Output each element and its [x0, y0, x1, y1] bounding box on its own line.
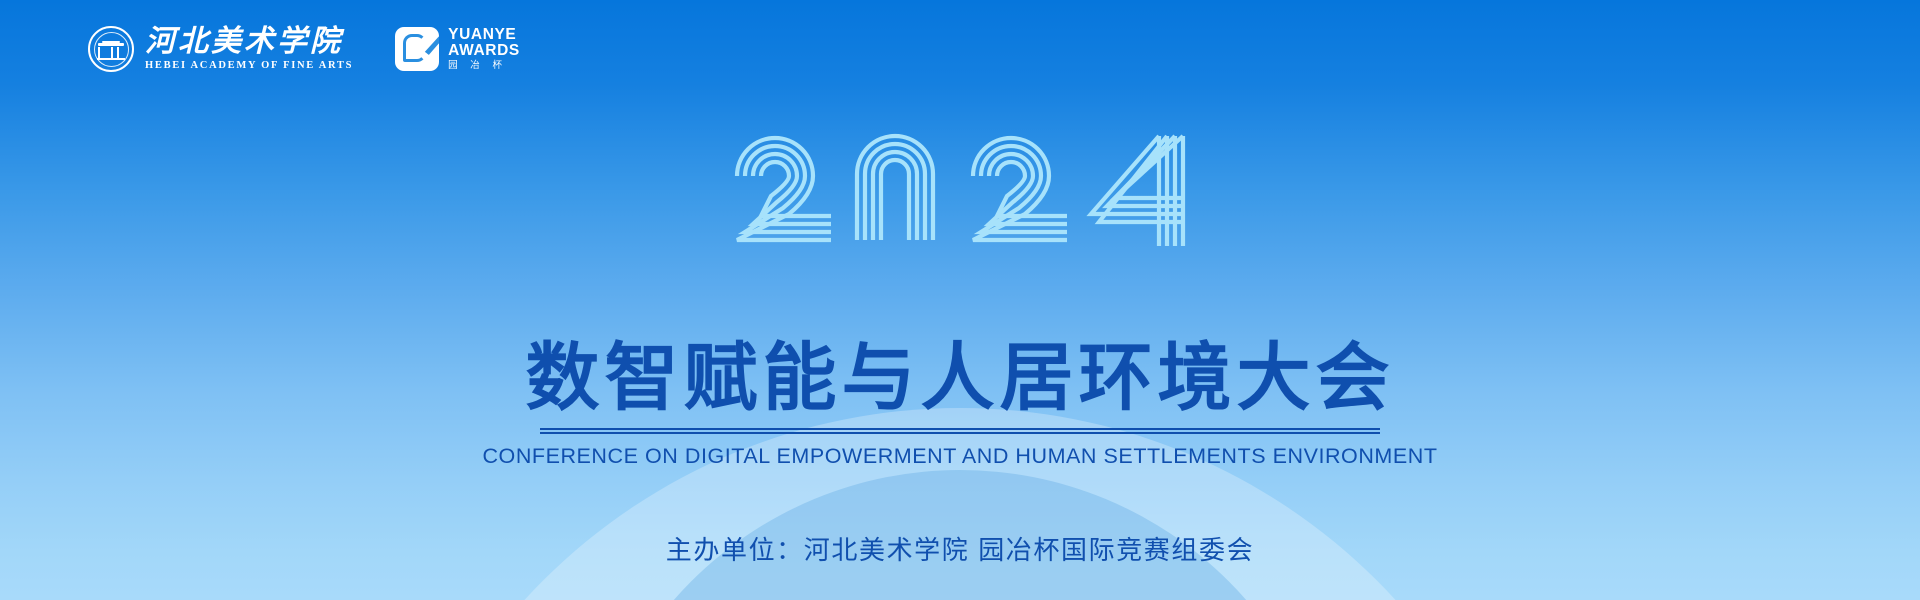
hebei-academy-name-en: HEBEI ACADEMY OF FINE ARTS	[145, 60, 353, 72]
seal-gate-glyph	[98, 41, 124, 58]
conference-banner: 河北美术学院 HEBEI ACADEMY OF FINE ARTS YUANYE…	[0, 0, 1920, 600]
year-digit-2-second	[963, 128, 1075, 248]
yuanye-leaf-mark-icon	[395, 27, 439, 71]
yuanye-awards-logo: YUANYE AWARDS 园 冶 杯	[395, 27, 520, 72]
title-divider-line-2	[540, 432, 1380, 434]
conference-title-cn: 数智赋能与人居环境大会	[0, 338, 1920, 418]
yuanye-line2: AWARDS	[448, 43, 520, 59]
yuanye-awards-wordmark: YUANYE AWARDS 园 冶 杯	[448, 27, 520, 72]
year-digit-2-first	[727, 128, 839, 248]
hebei-academy-name-cn: 河北美术学院	[145, 26, 353, 58]
title-divider-rules	[540, 428, 1380, 434]
year-digit-0	[845, 128, 957, 248]
logo-row: 河北美术学院 HEBEI ACADEMY OF FINE ARTS YUANYE…	[88, 26, 520, 72]
organizer-line: 主办单位：河北美术学院 园冶杯国际竞赛组委会	[0, 534, 1920, 566]
hebei-academy-wordmark: 河北美术学院 HEBEI ACADEMY OF FINE ARTS	[145, 26, 353, 72]
title-divider-line-1	[540, 428, 1380, 430]
yuanye-line1: YUANYE	[448, 27, 520, 43]
academy-seal-icon	[88, 26, 134, 72]
title-block: 数智赋能与人居环境大会 CONFERENCE ON DIGITAL EMPOWE…	[0, 338, 1920, 469]
year-digit-4	[1081, 128, 1193, 248]
hebei-academy-logo: 河北美术学院 HEBEI ACADEMY OF FINE ARTS	[88, 26, 353, 72]
yuanye-name-cn: 园 冶 杯	[448, 59, 520, 72]
year-2024-graphic	[0, 128, 1920, 248]
conference-title-en: CONFERENCE ON DIGITAL EMPOWERMENT AND HU…	[0, 443, 1920, 469]
